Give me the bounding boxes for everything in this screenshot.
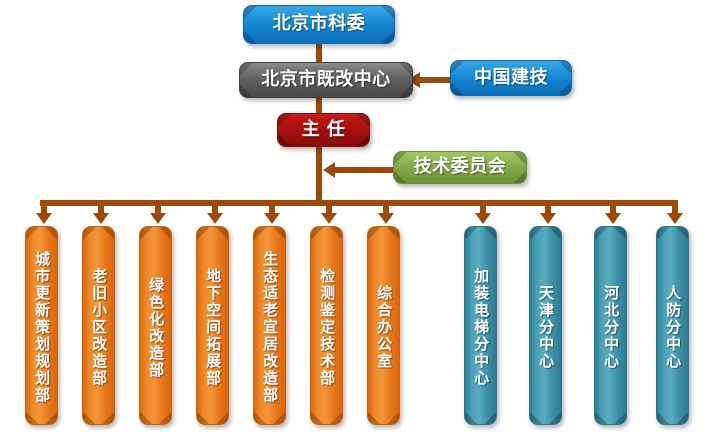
connector-drop-6 xyxy=(326,200,332,214)
arrow-drop-10 xyxy=(605,213,621,224)
connector-partner-to-center xyxy=(418,77,450,83)
node-technical-committee[interactable]: 技术委员会 xyxy=(393,151,527,184)
arrow-drop-3 xyxy=(150,213,166,224)
node-partner[interactable]: 中国建技 xyxy=(450,60,572,96)
arrow-drop-2 xyxy=(93,213,109,224)
node-center-label: 北京市既改中心 xyxy=(261,71,391,89)
node-department-6-label: 检测鉴定技术部 xyxy=(319,264,334,387)
connector-drop-1 xyxy=(41,200,47,214)
arrow-drop-8 xyxy=(475,213,491,224)
node-department-3-label: 绿色化改造部 xyxy=(148,273,163,379)
node-technical-committee-label: 技术委员会 xyxy=(414,158,507,176)
node-department-5-label: 生态适老宜居改造部 xyxy=(262,247,277,404)
node-department-5[interactable]: 生态适老宜居改造部 xyxy=(253,226,286,425)
node-department-4-label: 地下空间拓展部 xyxy=(205,264,220,387)
node-top-authority-label: 北京市科委 xyxy=(273,15,366,33)
arrow-drop-7 xyxy=(378,213,394,224)
connector-drop-2 xyxy=(98,200,104,214)
connector-drop-7 xyxy=(383,200,389,214)
connector-director-to-bus xyxy=(316,146,322,203)
node-branch-1-label: 加装电梯分中心 xyxy=(473,264,488,387)
node-department-2-label: 老旧小区改造部 xyxy=(91,264,106,387)
connector-horizontal-bus xyxy=(40,200,677,206)
node-department-1[interactable]: 城市更新策划规划部 xyxy=(25,226,58,425)
node-center[interactable]: 北京市既改中心 xyxy=(239,62,413,98)
connector-drop-11 xyxy=(672,200,678,214)
arrow-drop-9 xyxy=(540,213,556,224)
node-branch-4-label: 人防分中心 xyxy=(665,281,680,370)
arrow-committee-to-stem xyxy=(323,162,335,178)
node-branch-3[interactable]: 河北分中心 xyxy=(594,226,627,425)
node-branch-2-label: 天津分中心 xyxy=(538,281,553,370)
arrow-drop-6 xyxy=(321,213,337,224)
arrow-drop-4 xyxy=(207,213,223,224)
connector-drop-8 xyxy=(480,200,486,214)
node-department-3[interactable]: 绿色化改造部 xyxy=(139,226,172,425)
node-department-4[interactable]: 地下空间拓展部 xyxy=(196,226,229,425)
node-department-1-label: 城市更新策划规划部 xyxy=(34,247,49,404)
arrow-drop-1 xyxy=(36,213,52,224)
connector-top-to-center xyxy=(316,44,322,64)
arrow-drop-11 xyxy=(667,213,683,224)
node-branch-3-label: 河北分中心 xyxy=(603,281,618,370)
connector-drop-10 xyxy=(610,200,616,214)
node-branch-1[interactable]: 加装电梯分中心 xyxy=(464,226,497,425)
connector-drop-3 xyxy=(155,200,161,214)
node-director-label: 主 任 xyxy=(302,121,346,139)
node-department-7[interactable]: 综合办公室 xyxy=(367,226,400,425)
org-chart: 北京市科委 北京市既改中心 中国建技 主 任 技术委员会 城市更新策划规划部 老… xyxy=(0,0,705,436)
connector-drop-4 xyxy=(212,200,218,214)
node-partner-label: 中国建技 xyxy=(474,69,548,87)
node-department-6[interactable]: 检测鉴定技术部 xyxy=(310,226,343,425)
node-department-7-label: 综合办公室 xyxy=(376,281,391,370)
node-branch-2[interactable]: 天津分中心 xyxy=(529,226,562,425)
node-director[interactable]: 主 任 xyxy=(277,113,370,147)
arrow-drop-5 xyxy=(264,213,280,224)
node-department-2[interactable]: 老旧小区改造部 xyxy=(82,226,115,425)
connector-committee-to-stem xyxy=(335,167,393,173)
node-top-authority[interactable]: 北京市科委 xyxy=(243,5,395,44)
connector-drop-5 xyxy=(269,200,275,214)
connector-drop-9 xyxy=(545,200,551,214)
node-branch-4[interactable]: 人防分中心 xyxy=(656,226,689,425)
